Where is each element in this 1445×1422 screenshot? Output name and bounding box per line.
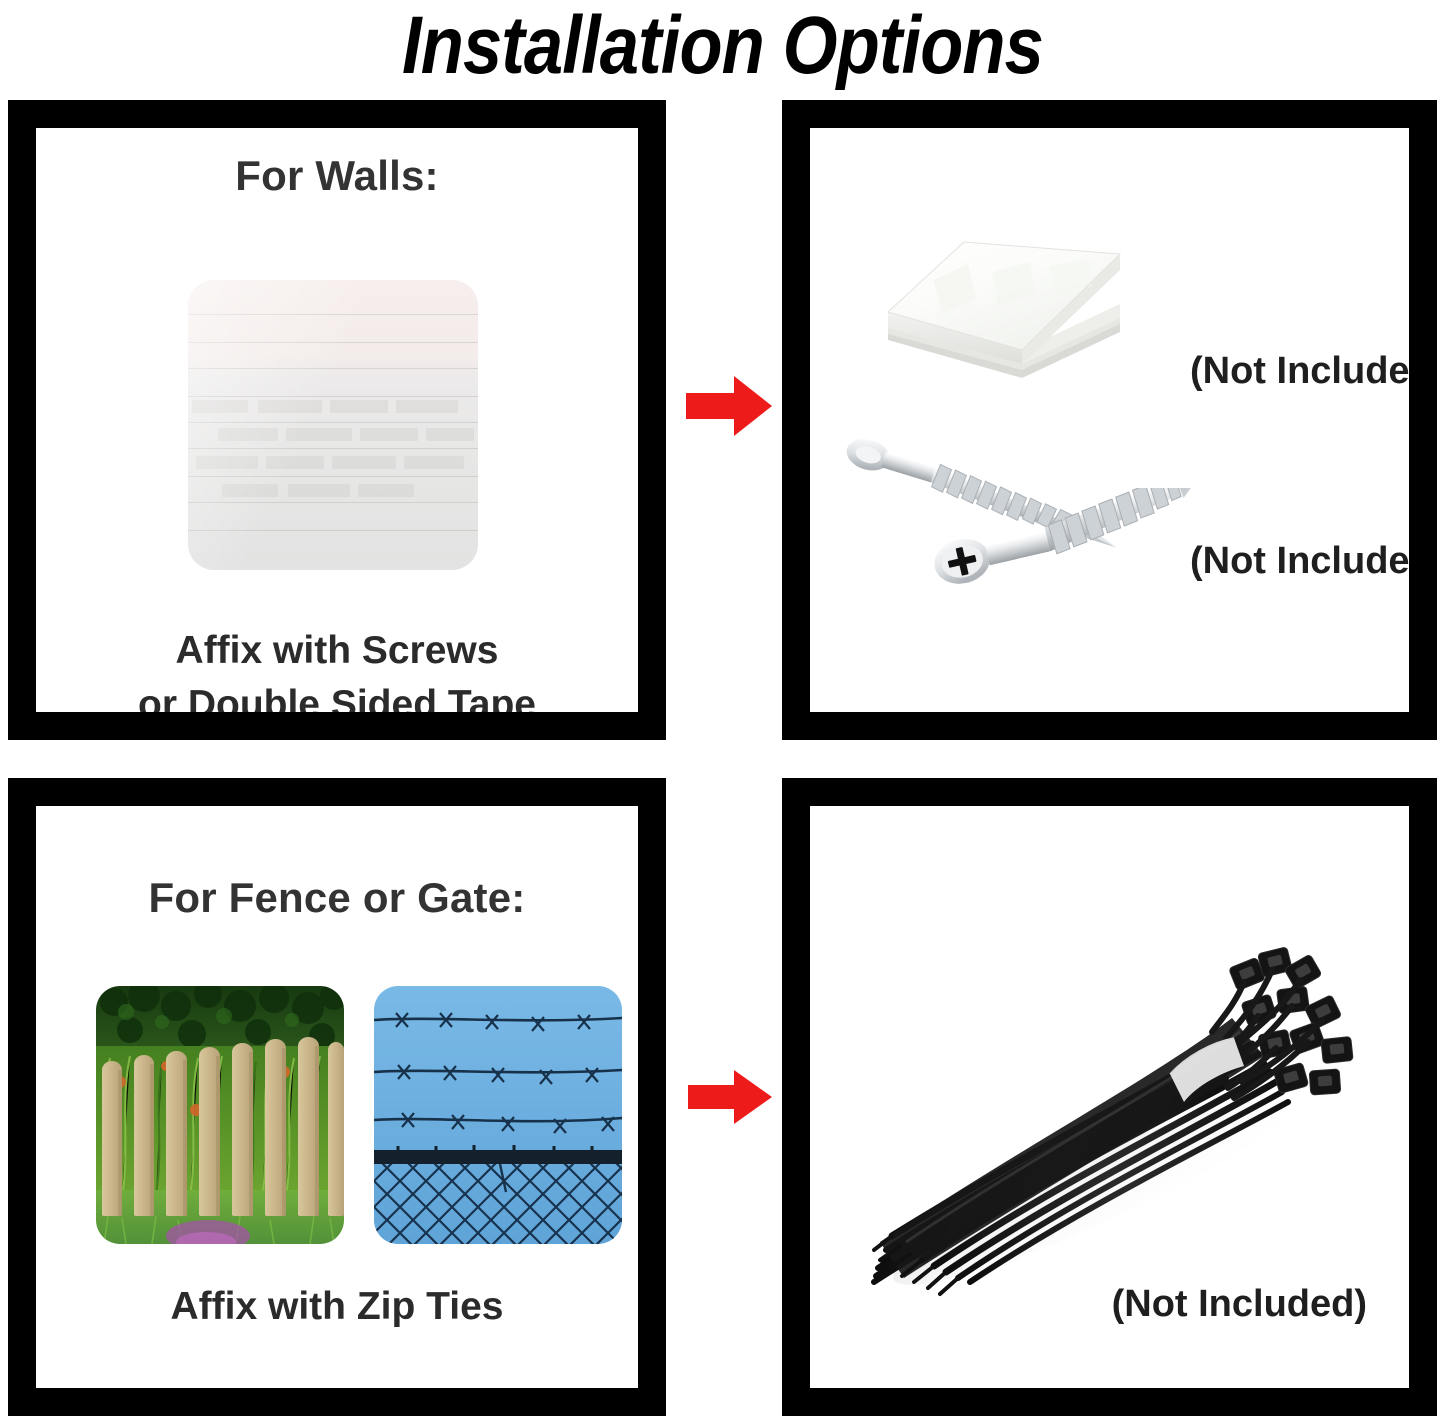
barbed-wire-chain-link-photo: [374, 986, 622, 1244]
white-brick-wall-image: [188, 280, 478, 570]
panel-for-walls: For Walls:: [8, 100, 666, 740]
zip-tie-bundle-image: [840, 906, 1360, 1306]
double-sided-tape-stack-image: [872, 220, 1122, 395]
walls-heading: For Walls:: [36, 152, 638, 200]
screws-not-included-label: (Not Included): [1190, 540, 1409, 583]
fence-caption: Affix with Zip Ties: [36, 1280, 638, 1334]
red-right-arrow-icon-top: [686, 374, 772, 438]
panel-for-fence-or-gate: For Fence or Gate:: [8, 778, 666, 1416]
panel-wall-hardware: (Not Included): [782, 100, 1437, 740]
panel-for-walls-content: For Walls:: [36, 128, 638, 712]
panel-zip-ties: (Not Included): [782, 778, 1437, 1416]
fence-heading: For Fence or Gate:: [36, 874, 638, 922]
picket-fence-photo: [96, 986, 344, 1244]
panel-for-fence-or-gate-content: For Fence or Gate:: [36, 806, 638, 1388]
panel-zip-ties-content: (Not Included): [810, 806, 1409, 1388]
page-title: Installation Options: [101, 0, 1344, 92]
panel-wall-hardware-content: (Not Included): [810, 128, 1409, 712]
zipties-not-included-label: (Not Included): [1112, 1283, 1367, 1326]
walls-caption-line1: Affix with Screws: [36, 624, 638, 678]
walls-caption-line2: or Double Sided Tape: [36, 678, 638, 712]
red-right-arrow-icon-bottom: [688, 1068, 772, 1126]
tape-not-included-label: (Not Included): [1190, 350, 1409, 393]
